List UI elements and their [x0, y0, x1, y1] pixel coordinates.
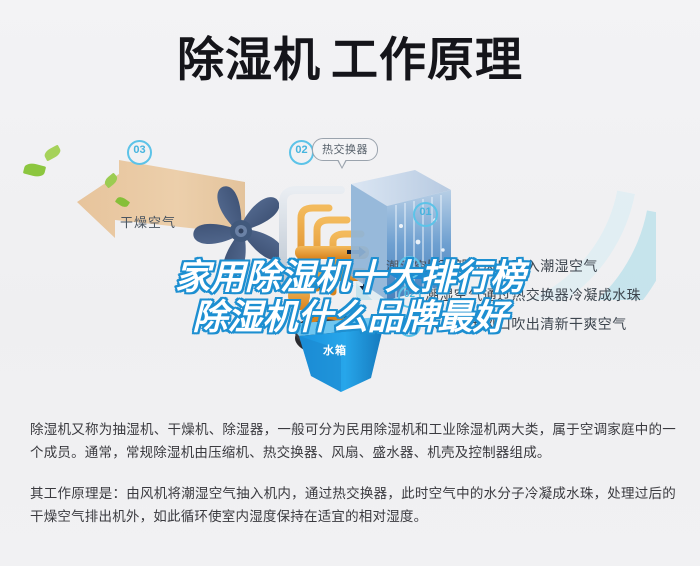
badge-02: 02 — [289, 140, 314, 165]
step-list: 01 从下部进风口吸入潮湿空气 02 潮湿空气通过热交换器冷凝成水珠 03 从上… — [398, 253, 698, 340]
list-item: 03 从上部出风口吹出清新干爽空气 — [398, 311, 698, 340]
page-title-part2: 工作原理 — [331, 33, 523, 86]
heat-exchanger-callout: 热交换器 — [312, 138, 378, 161]
step-badge: 02 — [398, 285, 421, 308]
step-badge: 03 — [398, 314, 421, 337]
dry-air-label: 干燥空气 — [120, 212, 176, 231]
paragraph-2: 其工作原理是：由风机将潮湿空气抽入机内，通过热交换器，此时空气中的水分子冷凝成水… — [30, 482, 676, 528]
step-text: 从上部出风口吹出清新干爽空气 — [425, 314, 627, 334]
list-item: 02 潮湿空气通过热交换器冷凝成水珠 — [398, 282, 698, 311]
page-title: 除湿机工作原理 — [0, 36, 700, 83]
leaf-icon — [23, 162, 46, 179]
page-title-part1: 除湿机 — [177, 33, 321, 86]
step-badge: 01 — [398, 256, 421, 279]
leaf-icon — [43, 145, 63, 162]
badge-01: 01 — [413, 202, 438, 227]
infographic-page: 除湿机工作原理 — [0, 0, 700, 566]
water-tank-label: 水箱 — [323, 342, 347, 358]
step-text: 从下部进风口吸入潮湿空气 — [425, 256, 598, 276]
list-item: 01 从下部进风口吸入潮湿空气 — [398, 253, 698, 282]
badge-03: 03 — [127, 140, 152, 165]
body-copy: 除湿机又称为抽湿机、干燥机、除湿器，一般可分为民用除湿机和工业除湿机两大类，属于… — [30, 418, 676, 546]
water-tank: 水箱 — [285, 316, 397, 392]
step-text: 潮湿空气通过热交换器冷凝成水珠 — [425, 285, 641, 305]
paragraph-1: 除湿机又称为抽湿机、干燥机、除湿器，一般可分为民用除湿机和工业除湿机两大类，属于… — [30, 418, 676, 464]
